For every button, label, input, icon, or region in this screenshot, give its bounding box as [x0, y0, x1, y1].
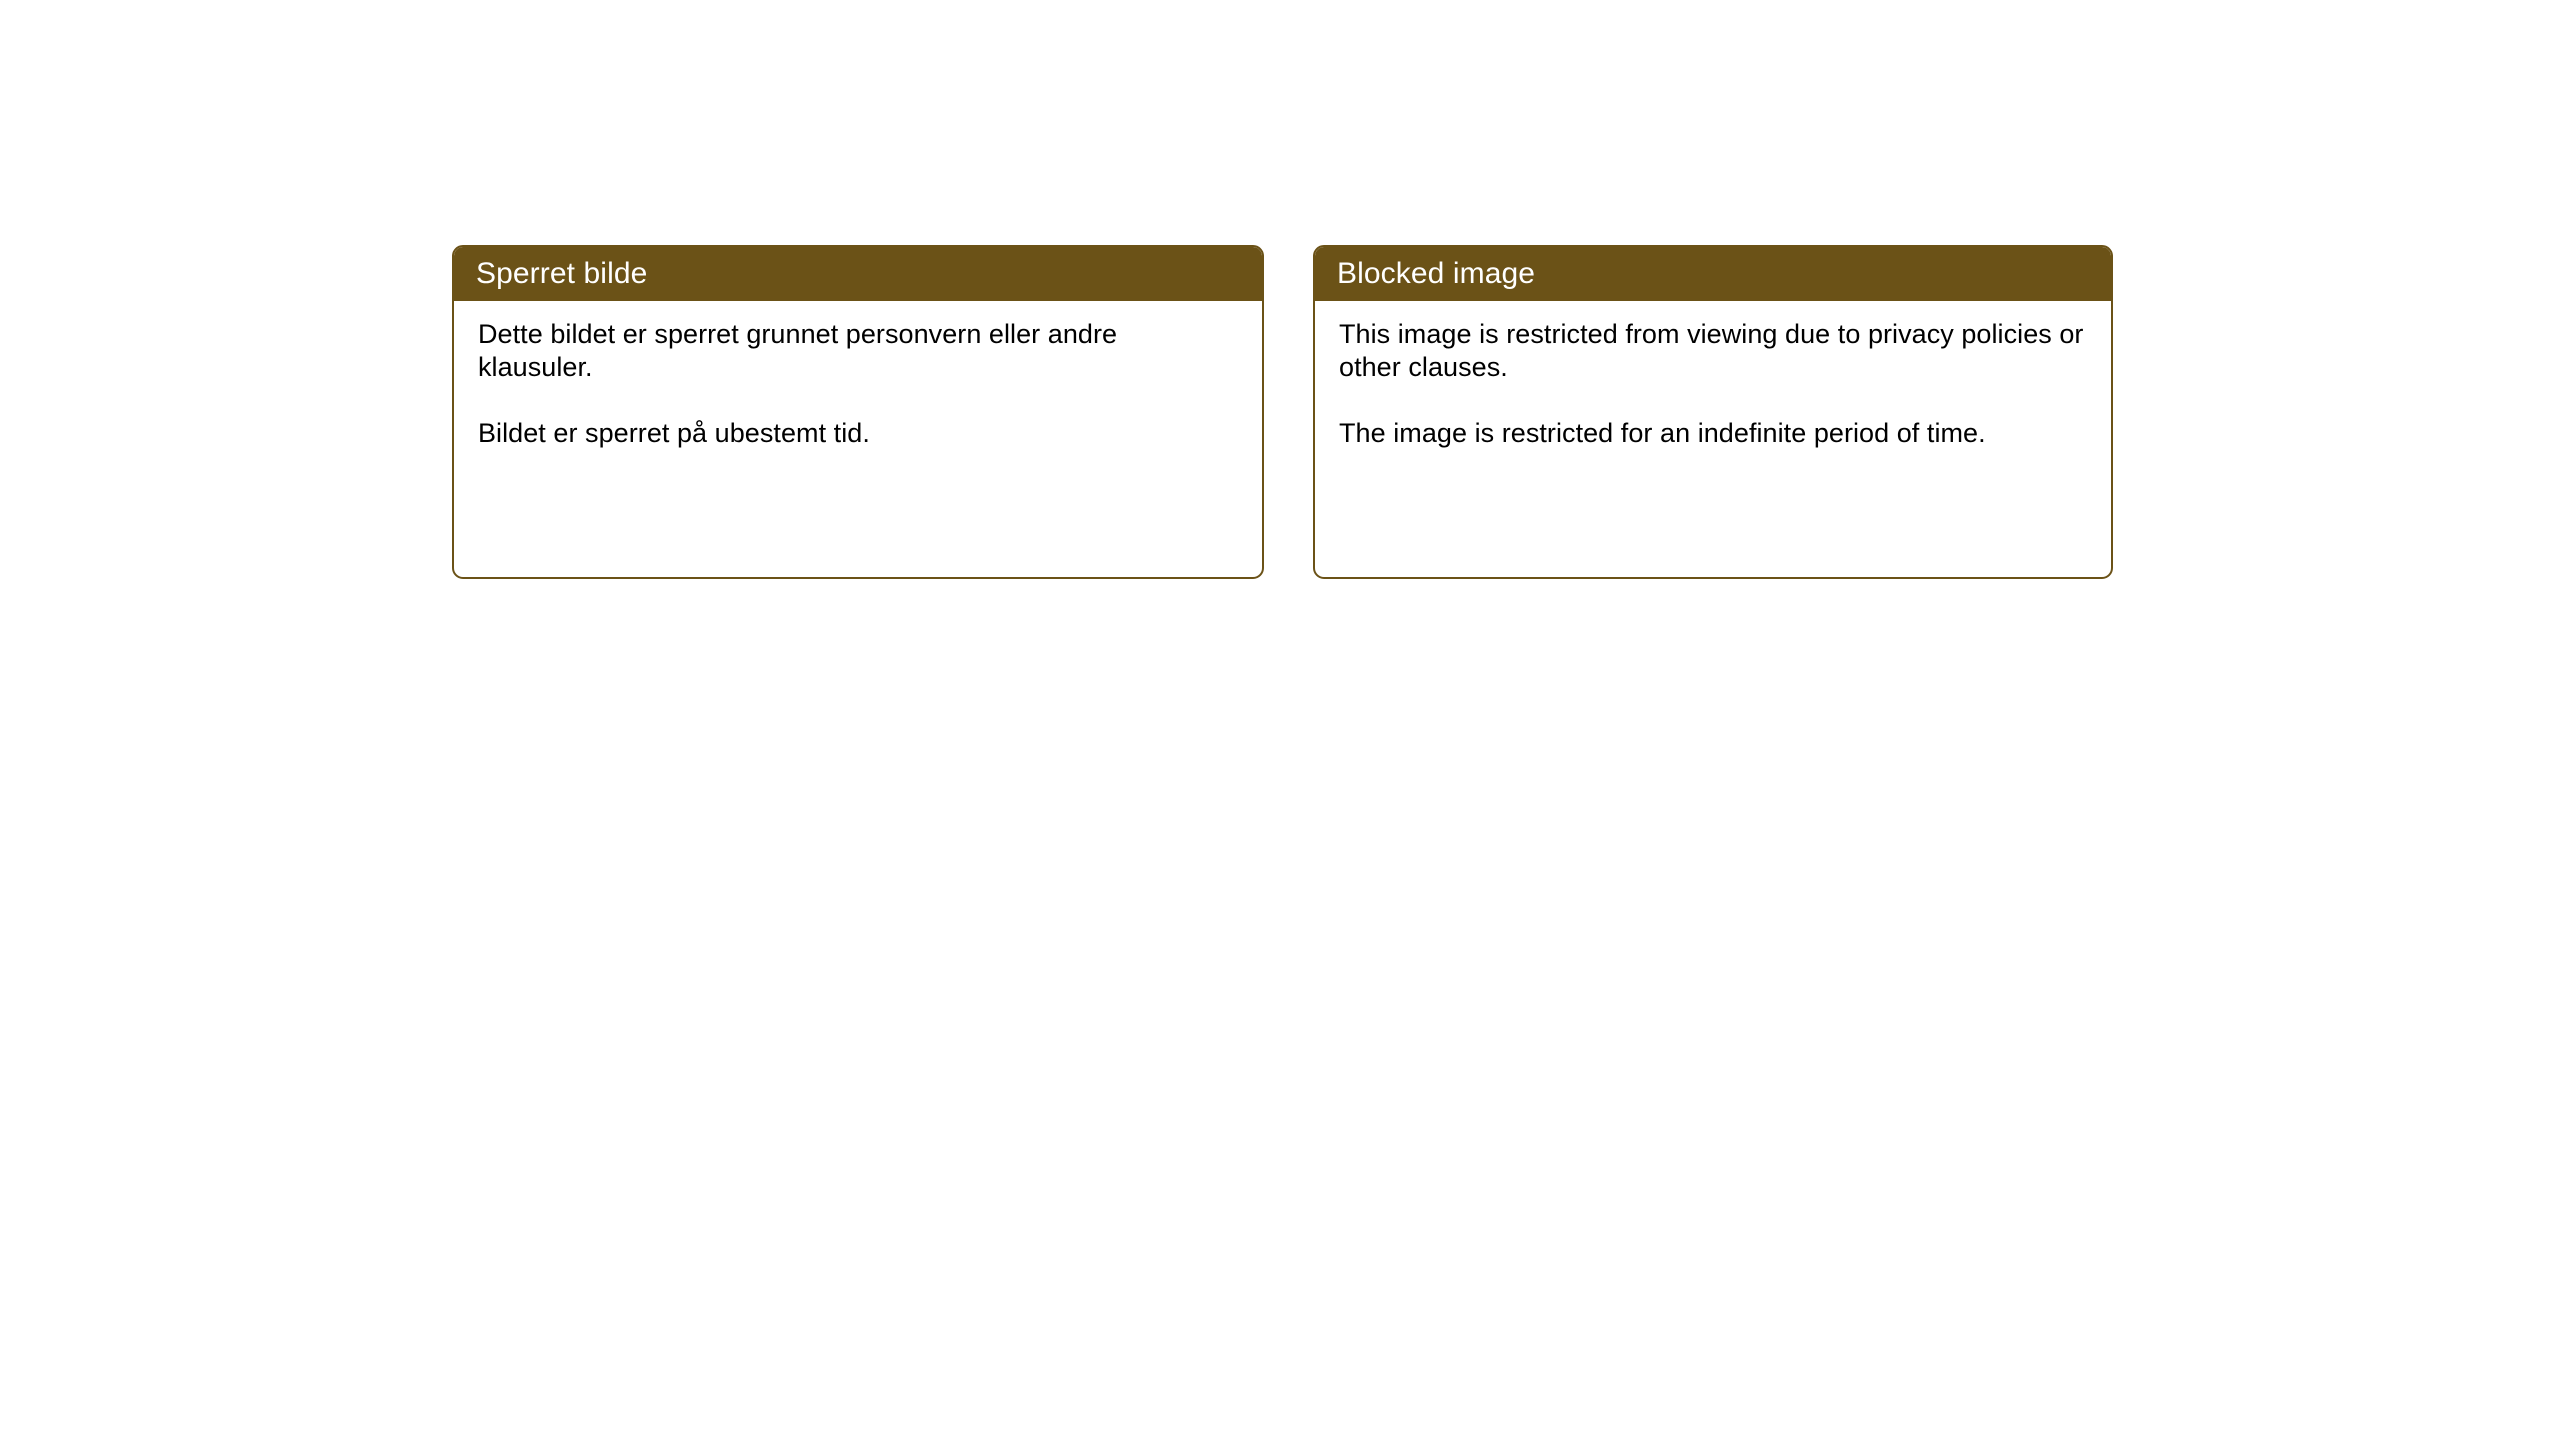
notice-card-body: This image is restricted from viewing du…	[1315, 301, 2111, 450]
notice-card-header: Blocked image	[1315, 247, 2111, 301]
notice-card-body: Dette bildet er sperret grunnet personve…	[454, 301, 1262, 450]
notice-paragraph-reason: This image is restricted from viewing du…	[1339, 318, 2087, 384]
notice-paragraph-reason: Dette bildet er sperret grunnet personve…	[478, 318, 1238, 384]
blocked-image-notice-card-norwegian: Sperret bilde Dette bildet er sperret gr…	[452, 245, 1264, 579]
notice-paragraph-duration: The image is restricted for an indefinit…	[1339, 417, 2087, 450]
paragraph-spacer	[478, 384, 1238, 417]
notice-card-title: Blocked image	[1337, 259, 1535, 289]
notice-paragraph-duration: Bildet er sperret på ubestemt tid.	[478, 417, 1238, 450]
blocked-image-notice-card-english: Blocked image This image is restricted f…	[1313, 245, 2113, 579]
page-canvas: Sperret bilde Dette bildet er sperret gr…	[0, 0, 2560, 1440]
paragraph-spacer	[1339, 384, 2087, 417]
notice-card-header: Sperret bilde	[454, 247, 1262, 301]
notice-card-title: Sperret bilde	[476, 259, 647, 289]
